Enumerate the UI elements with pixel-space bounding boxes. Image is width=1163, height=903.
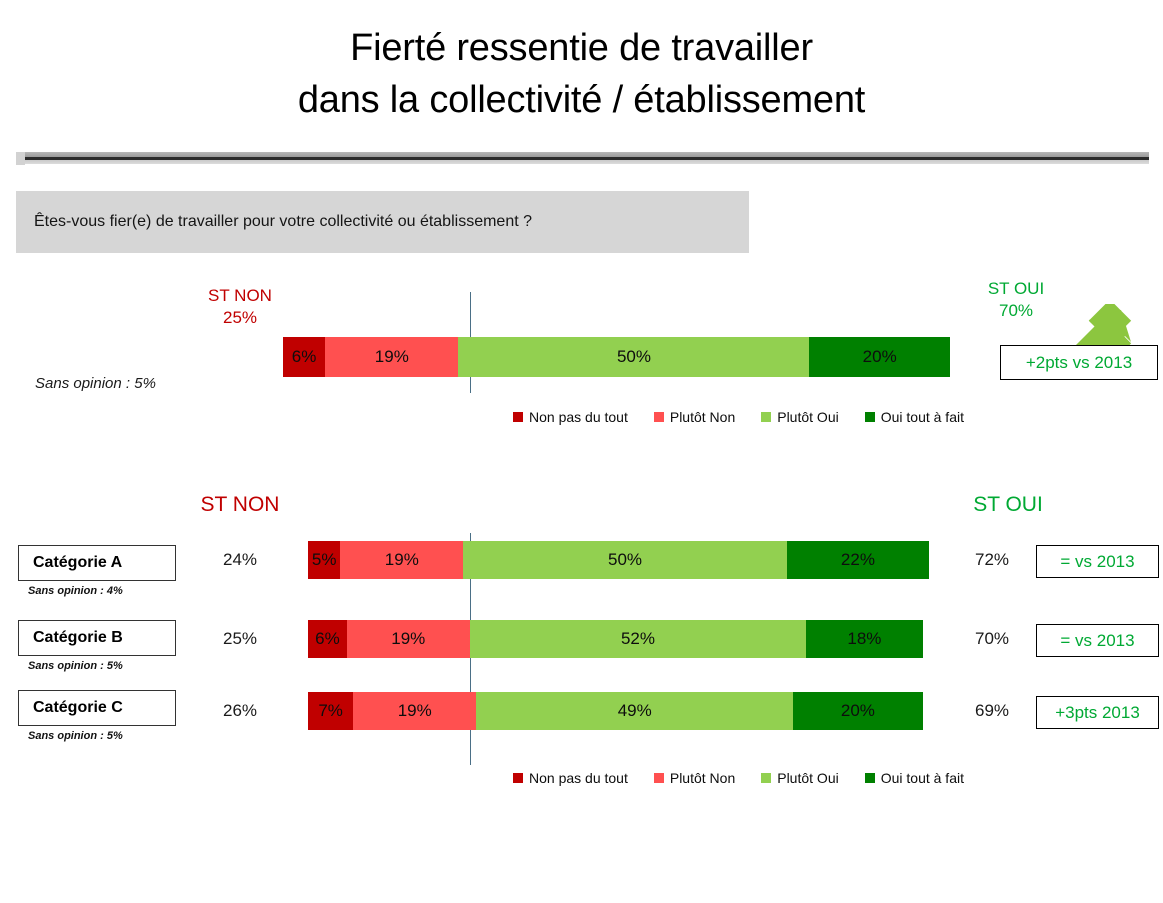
legend-bottom-item-0: Non pas du tout <box>513 770 628 786</box>
legend-top-label-0: Non pas du tout <box>529 409 628 425</box>
breakdown-bar-1-segment-3: 18% <box>806 620 922 658</box>
legend-bottom-label-3: Oui tout à fait <box>881 770 964 786</box>
category-box-1: Catégorie B <box>18 620 176 656</box>
breakdown-st-non-header: ST NON <box>195 494 285 516</box>
title-line-1: Fierté ressentie de travailler <box>0 22 1163 74</box>
row-st-oui-value-0: 72% <box>962 550 1022 570</box>
breakdown-bar-0: 5%19%50%22% <box>308 541 1010 579</box>
breakdown-bar-1-segment-2: 52% <box>470 620 806 658</box>
category-sans-opinion-1: Sans opinion : 5% <box>28 660 123 672</box>
row-evolution-text-1: = vs 2013 <box>1060 631 1134 651</box>
overall-bar-segment-0-label: 6% <box>292 347 317 367</box>
legend-bottom-item-2: Plutôt Oui <box>761 770 838 786</box>
category-box-2: Catégorie C <box>18 690 176 726</box>
legend-top-label-1: Plutôt Non <box>670 409 735 425</box>
breakdown-bar-1-segment-1-label: 19% <box>391 629 425 649</box>
overall-bar-segment-2: 50% <box>458 337 809 377</box>
overall-bar-segment-0: 6% <box>283 337 325 377</box>
legend-bottom-item-3: Oui tout à fait <box>865 770 964 786</box>
overall-bar-segment-2-label: 50% <box>617 347 651 367</box>
row-evolution-callout-2: +3pts 2013 <box>1036 696 1159 729</box>
breakdown-bar-1-segment-2-label: 52% <box>621 629 655 649</box>
breakdown-bar-0-segment-0: 5% <box>308 541 340 579</box>
overall-st-non: ST NON 25% <box>195 285 285 329</box>
row-st-non-value-1: 25% <box>210 629 270 649</box>
breakdown-bar-2-segment-3: 20% <box>793 692 922 730</box>
breakdown-bar-1-segment-3-label: 18% <box>847 629 881 649</box>
breakdown-bar-0-segment-3-label: 22% <box>841 550 875 570</box>
overall-bar-segment-3: 20% <box>809 337 949 377</box>
legend-bottom-label-2: Plutôt Oui <box>777 770 838 786</box>
breakdown-bar-0-segment-1: 19% <box>340 541 463 579</box>
overall-st-non-label: ST NON <box>195 285 285 307</box>
overall-sans-opinion: Sans opinion : 5% <box>35 375 156 392</box>
overall-stacked-bar: 6%19%50%20% <box>283 337 985 377</box>
overall-st-oui-label: ST OUI <box>971 278 1061 300</box>
breakdown-bar-0-segment-2: 50% <box>463 541 787 579</box>
divider-bottom <box>16 160 1149 164</box>
legend-top-swatch-1-icon <box>654 412 664 422</box>
row-st-oui-value-2: 69% <box>962 701 1022 721</box>
legend-bottom: Non pas du toutPlutôt NonPlutôt OuiOui t… <box>513 770 964 786</box>
legend-bottom-item-1: Plutôt Non <box>654 770 735 786</box>
legend-top-item-3: Oui tout à fait <box>865 409 964 425</box>
question-text: Êtes-vous fier(e) de travailler pour vot… <box>16 213 532 231</box>
legend-top-swatch-3-icon <box>865 412 875 422</box>
legend-bottom-label-0: Non pas du tout <box>529 770 628 786</box>
breakdown-bar-0-segment-3: 22% <box>787 541 929 579</box>
breakdown-st-oui-header: ST OUI <box>963 494 1053 516</box>
overall-bar-segment-1-label: 19% <box>375 347 409 367</box>
breakdown-bar-2-segment-2-label: 49% <box>618 701 652 721</box>
question-banner: Êtes-vous fier(e) de travailler pour vot… <box>16 191 749 253</box>
category-sans-opinion-0: Sans opinion : 4% <box>28 585 123 597</box>
legend-bottom-swatch-2-icon <box>761 773 771 783</box>
breakdown-bar-2-segment-1-label: 19% <box>398 701 432 721</box>
legend-top-item-2: Plutôt Oui <box>761 409 838 425</box>
category-box-0: Catégorie A <box>18 545 176 581</box>
breakdown-bar-0-segment-0-label: 5% <box>312 550 337 570</box>
breakdown-bar-1-segment-0-label: 6% <box>315 629 340 649</box>
row-evolution-callout-1: = vs 2013 <box>1036 624 1159 657</box>
category-label-2: Catégorie C <box>19 699 123 717</box>
legend-bottom-swatch-3-icon <box>865 773 875 783</box>
breakdown-bar-2-segment-3-label: 20% <box>841 701 875 721</box>
legend-bottom-swatch-0-icon <box>513 773 523 783</box>
breakdown-bar-2-segment-1: 19% <box>353 692 476 730</box>
breakdown-bar-1-segment-0: 6% <box>308 620 347 658</box>
breakdown-bar-2: 7%19%49%20% <box>308 692 1010 730</box>
row-st-non-value-0: 24% <box>210 550 270 570</box>
breakdown-bar-0-segment-2-label: 50% <box>608 550 642 570</box>
breakdown-bar-2-segment-0-label: 7% <box>318 701 343 721</box>
category-sans-opinion-2: Sans opinion : 5% <box>28 730 123 742</box>
legend-top-swatch-2-icon <box>761 412 771 422</box>
overall-st-non-value: 25% <box>195 307 285 329</box>
row-evolution-text-2: +3pts 2013 <box>1055 703 1140 723</box>
overall-bar-segment-1: 19% <box>325 337 458 377</box>
overall-st-oui-value: 70% <box>971 300 1061 322</box>
legend-top-item-1: Plutôt Non <box>654 409 735 425</box>
page-title: Fierté ressentie de travailler dans la c… <box>0 22 1163 126</box>
row-st-non-value-2: 26% <box>210 701 270 721</box>
row-evolution-callout-0: = vs 2013 <box>1036 545 1159 578</box>
header-divider <box>16 152 1149 165</box>
row-st-oui-value-1: 70% <box>962 629 1022 649</box>
category-label-0: Catégorie A <box>19 554 122 572</box>
legend-top: Non pas du toutPlutôt NonPlutôt OuiOui t… <box>513 409 964 425</box>
legend-top-item-0: Non pas du tout <box>513 409 628 425</box>
breakdown-bar-2-segment-2: 49% <box>476 692 793 730</box>
legend-top-label-2: Plutôt Oui <box>777 409 838 425</box>
overall-bar-segment-3-label: 20% <box>863 347 897 367</box>
divider-cap <box>16 152 25 165</box>
breakdown-bar-2-segment-0: 7% <box>308 692 353 730</box>
breakdown-bar-0-segment-1-label: 19% <box>385 550 419 570</box>
title-line-2: dans la collectivité / établissement <box>0 74 1163 126</box>
category-label-1: Catégorie B <box>19 629 123 647</box>
row-evolution-text-0: = vs 2013 <box>1060 552 1134 572</box>
legend-top-swatch-0-icon <box>513 412 523 422</box>
legend-bottom-label-1: Plutôt Non <box>670 770 735 786</box>
overall-evolution-text: +2pts vs 2013 <box>1026 353 1132 373</box>
legend-top-label-3: Oui tout à fait <box>881 409 964 425</box>
overall-st-oui: ST OUI 70% <box>971 278 1061 322</box>
legend-bottom-swatch-1-icon <box>654 773 664 783</box>
breakdown-bar-1-segment-1: 19% <box>347 620 470 658</box>
overall-evolution-callout: +2pts vs 2013 <box>1000 345 1158 380</box>
breakdown-bar-1: 6%19%52%18% <box>308 620 1010 658</box>
